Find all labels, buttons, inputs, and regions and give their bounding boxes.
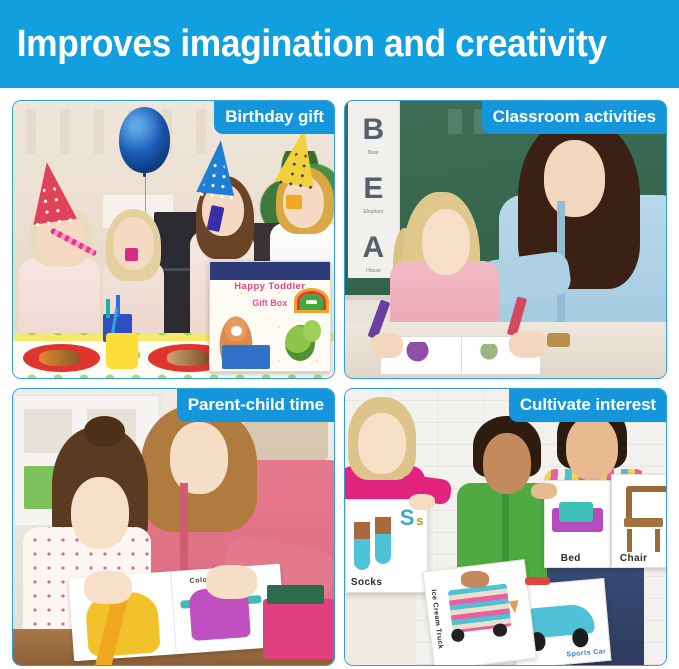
child-b-head — [113, 217, 155, 270]
scene-flash-cards: S s Socks Bed Chair — [345, 389, 666, 666]
boy-bracelet — [525, 577, 551, 585]
scene-classroom: B Bear E Elephant A House — [345, 101, 666, 378]
child-c-head — [566, 416, 617, 480]
teacher-hand — [509, 331, 548, 359]
chair-leg-left — [627, 529, 631, 553]
girl-head — [358, 413, 406, 474]
yellow-cup — [106, 333, 138, 369]
header-banner: Improves imagination and creativity — [0, 0, 679, 88]
truck-wheel-rear — [493, 624, 508, 638]
teacher-head — [544, 140, 605, 217]
girl-hand — [409, 494, 435, 511]
scene-parent-child: Ball Colors — [13, 389, 334, 666]
wristwatch-icon — [547, 333, 569, 347]
sock-icon-2 — [375, 517, 390, 565]
badge-cultivate-interest: Cultivate interest — [509, 389, 666, 422]
badge-birthday-gift: Birthday gift — [214, 101, 334, 134]
panel-grid: Happy Toddler Gift Box Birthday gift B — [12, 100, 667, 666]
poster-letter-b: B — [363, 113, 385, 147]
card-word-sports-car: Sports Car — [566, 648, 606, 658]
badge-classroom-activities: Classroom activities — [482, 101, 666, 134]
party-horn-magenta — [125, 248, 138, 262]
flash-card-chair: Chair — [611, 474, 666, 568]
food-left — [39, 350, 81, 367]
green-book — [267, 585, 325, 604]
chair-leg-right — [655, 529, 659, 553]
card-letter-lowercase: s — [416, 513, 423, 528]
card-word-bed: Bed — [561, 553, 581, 564]
gift-box-product: Happy Toddler Gift Box — [209, 261, 331, 372]
badge-parent-child-time: Parent-child time — [177, 389, 334, 422]
birthday-banner — [26, 109, 206, 153]
party-horn-orange — [286, 195, 302, 209]
mother-hand — [206, 565, 257, 598]
panel-parent-child-time[interactable]: Ball Colors Parent-child time — [12, 388, 335, 667]
sock-icon-1 — [354, 522, 369, 570]
turtle-icon — [283, 318, 324, 368]
coloring-book-illustration-left — [400, 342, 435, 363]
pink-folder — [263, 599, 334, 660]
card-word-ice-cream-truck: Ice Cream Truck — [430, 589, 444, 649]
boy-head — [483, 433, 531, 494]
poster-letter-a: A — [363, 231, 385, 265]
child-hair-bun — [84, 416, 126, 446]
gift-box-title-line1: Happy Toddler — [215, 281, 325, 293]
ice-cream-cone-icon — [509, 601, 521, 615]
child-hand — [84, 571, 132, 604]
boy-hand — [461, 571, 490, 588]
child-c-hand — [531, 483, 557, 500]
poster-caption-b: Bear — [348, 150, 398, 156]
panel-birthday-gift[interactable]: Happy Toddler Gift Box Birthday gift — [12, 100, 335, 379]
student-hand — [371, 333, 403, 358]
panel-cultivate-interest[interactable]: S s Socks Bed Chair — [344, 388, 667, 667]
truck-wheel-front — [451, 629, 466, 643]
flash-card-socks: S s Socks — [345, 499, 428, 593]
poster-row-b: B Bear — [348, 101, 398, 160]
child-head — [71, 477, 129, 549]
poster-row-e: E Elephant — [348, 160, 398, 219]
turtle-book-icon — [222, 345, 270, 369]
alphabet-poster: B Bear E Elephant A House — [348, 101, 399, 278]
balloon-icon — [119, 107, 170, 173]
scene-birthday-party: Happy Toddler Gift Box — [13, 101, 334, 378]
panel-classroom-activities[interactable]: B Bear E Elephant A House — [344, 100, 667, 379]
chair-icon — [626, 486, 661, 552]
page-title: Improves imagination and creativity — [0, 23, 607, 66]
bed-icon — [552, 500, 603, 545]
student-head — [422, 209, 470, 275]
coloring-book-illustration-right — [473, 344, 505, 361]
product-feature-image: Improves imagination and creativity — [0, 0, 679, 669]
card-word-socks: Socks — [351, 577, 382, 588]
card-word-chair: Chair — [620, 553, 648, 564]
gift-box-title-line2: Gift Box — [215, 298, 325, 308]
food-right — [167, 350, 209, 367]
poster-letter-e: E — [363, 172, 383, 206]
poster-caption-e: Elephant — [348, 209, 398, 215]
